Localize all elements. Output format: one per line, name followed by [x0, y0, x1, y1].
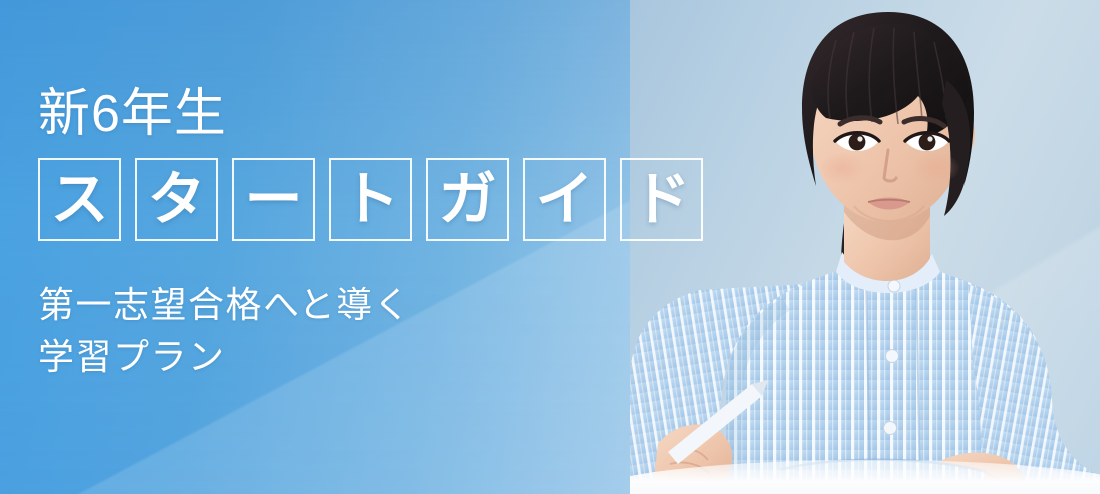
banner-eyebrow: 新6年生: [38, 88, 758, 140]
title-char-box-3: ー: [232, 158, 315, 241]
title-char-box-2: タ: [135, 158, 218, 241]
banner-subcopy: 第一志望合格へと導く 学習プラン: [38, 279, 758, 383]
banner-copy: 新6年生 ス タ ー ト ガ イ ド 第一志望合格へと導く 学習プラン: [38, 88, 758, 383]
banner-subcopy-line-2: 学習プラン: [38, 331, 758, 383]
cheek-right: [912, 152, 960, 184]
pearl-buttons: [888, 280, 900, 292]
title-char-box-7: ド: [620, 158, 703, 241]
title-char-box-1: ス: [38, 158, 121, 241]
banner-title-boxes: ス タ ー ト ガ イ ド: [38, 158, 758, 241]
cheek-left: [818, 152, 866, 184]
title-char-box-5: ガ: [426, 158, 509, 241]
start-guide-banner: 新6年生 ス タ ー ト ガ イ ド 第一志望合格へと導く 学習プラン: [0, 0, 1100, 494]
title-char-box-6: イ: [523, 158, 606, 241]
title-char-box-4: ト: [329, 158, 412, 241]
banner-subcopy-line-1: 第一志望合格へと導く: [38, 279, 758, 331]
